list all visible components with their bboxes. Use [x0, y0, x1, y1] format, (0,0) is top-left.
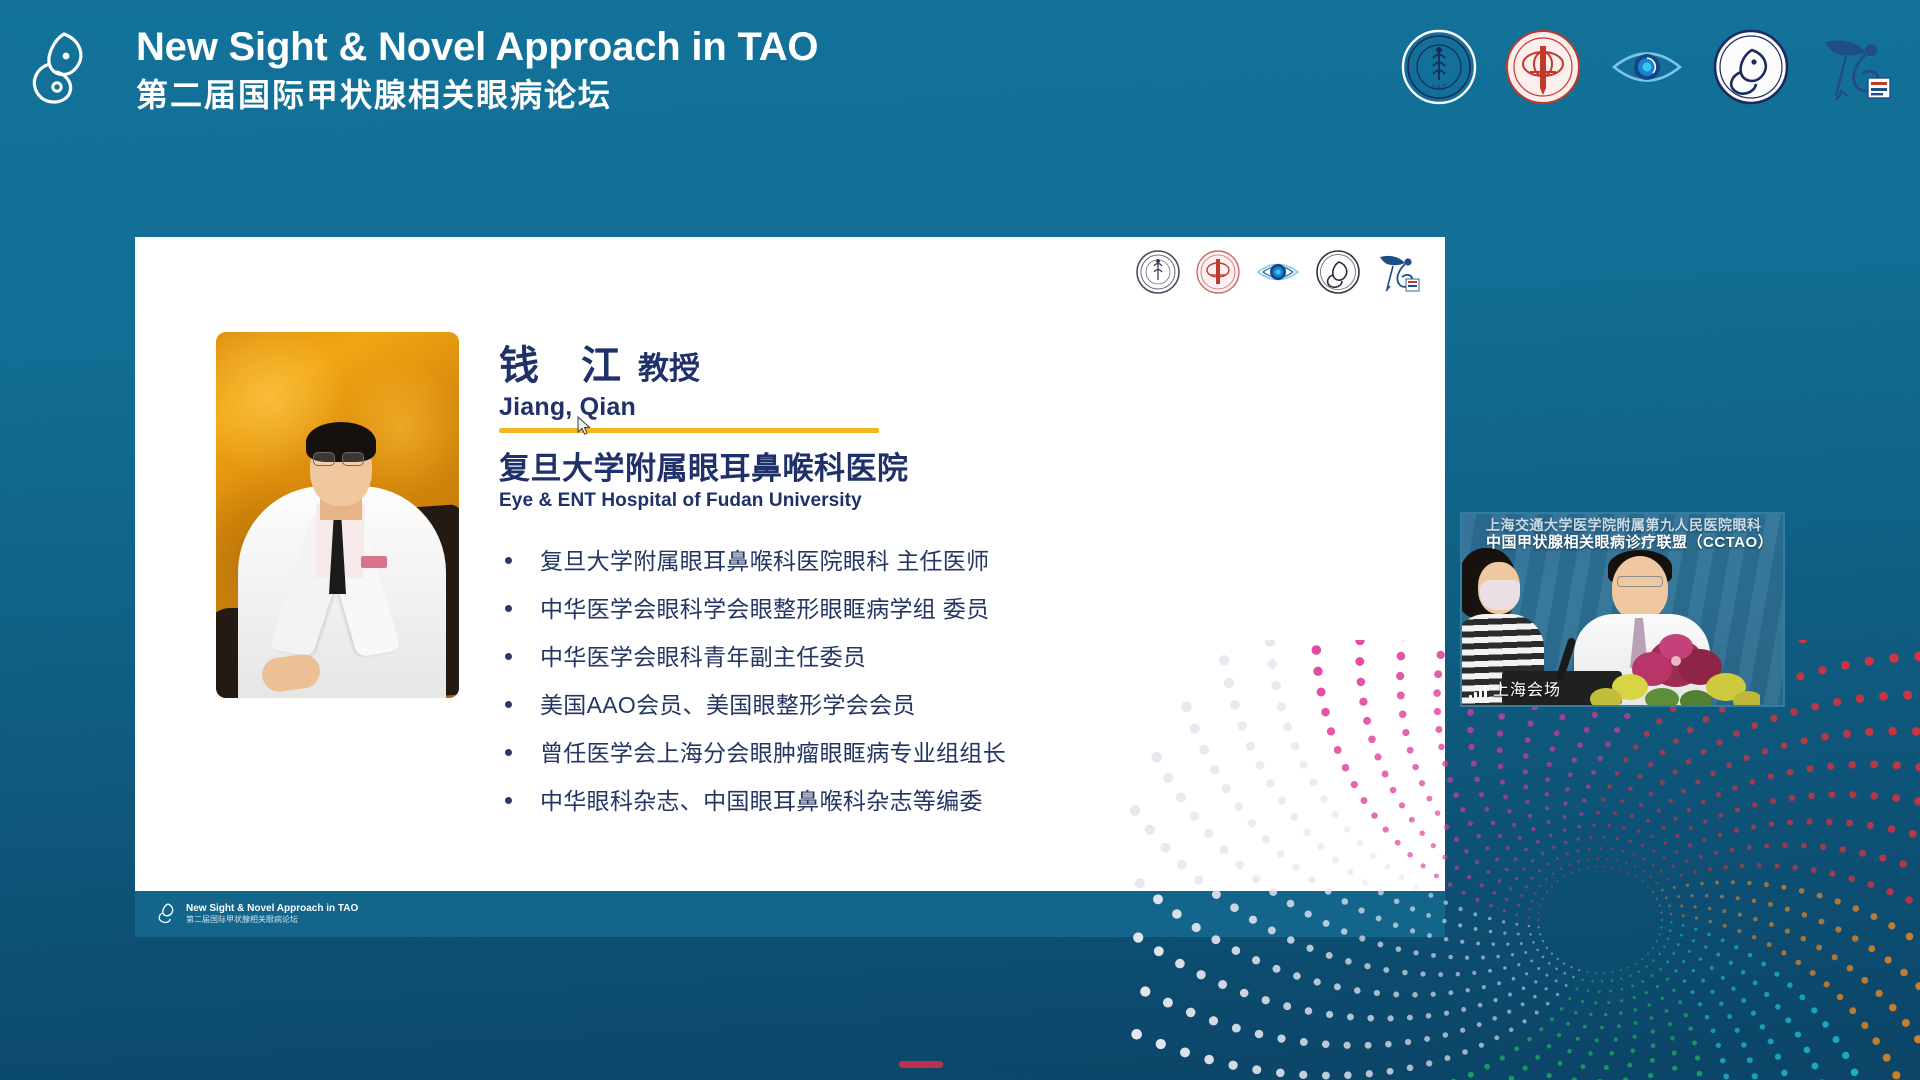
flower-arrangement — [1590, 617, 1760, 707]
list-item: 复旦大学附属眼耳鼻喉科医院眼科 主任医师 — [499, 546, 1389, 577]
slide-content: 钱 江 教授 Jiang, Qian 复旦大学附属眼耳鼻喉科医院 Eye & E… — [499, 333, 1389, 834]
video-overlay-line-2: 中国甲状腺相关眼病诊疗联盟（CCTAO） — [1486, 531, 1773, 552]
header-title-group: New Sight & Novel Approach in TAO 第二届国际甲… — [136, 24, 818, 115]
bottom-progress-mark — [899, 1061, 943, 1068]
list-item-label: 曾任医学会上海分会眼肿瘤眼眶病专业组组长 — [540, 738, 1006, 769]
shanghai-jiaotong-university-school-of-medicine-seal-icon: J·A·T — [1400, 28, 1478, 106]
credentials-list: 复旦大学附属眼耳鼻喉科医院眼科 主任医师 中华医学会眼科学会眼整形眼眶病学组 委… — [499, 546, 1389, 817]
svg-text:J·A·T: J·A·T — [1432, 84, 1447, 90]
footer-title-en: New Sight & Novel Approach in TAO — [186, 903, 358, 916]
speaker-name-cn: 钱 江 — [499, 333, 622, 391]
bullet-dot-icon — [505, 605, 512, 612]
speaker-title-cn: 教授 — [638, 343, 700, 388]
bullet-dot-icon — [505, 653, 512, 660]
header-logo-strip: J·A·T — [1400, 28, 1894, 106]
eye-institute-emblem-icon — [1608, 28, 1686, 106]
caduceus-wing-emblem-icon — [1816, 28, 1894, 106]
header-title-en: New Sight & Novel Approach in TAO — [136, 24, 818, 71]
tongji-university-medical-seal-icon — [1504, 28, 1582, 106]
speaker-name-block: 钱 江 教授 Jiang, Qian 复旦大学附属眼耳鼻喉科医院 Eye & E… — [499, 333, 1389, 512]
bullet-dot-icon — [505, 701, 512, 708]
caduceus-wing-emblem-icon — [1375, 249, 1421, 295]
video-venue-label-group: 上海会场 — [1469, 676, 1561, 700]
list-item: 中华眼科杂志、中国眼耳鼻喉科杂志等编委 — [499, 786, 1389, 817]
list-item: 美国AAO会员、美国眼整形学会会员 — [499, 690, 1389, 721]
butterfly-circle-seal-icon — [1712, 28, 1790, 106]
face-mask — [1480, 580, 1520, 610]
signal-bars-icon — [1469, 685, 1487, 700]
list-item: 中华医学会眼科学会眼整形眼眶病学组 委员 — [499, 594, 1389, 625]
affiliation-cn: 复旦大学附属眼耳鼻喉科医院 — [499, 443, 1389, 488]
slide-footer: New Sight & Novel Approach in TAO 第二届国际甲… — [135, 891, 1445, 937]
footer-title-cn: 第二届国际甲状腺相关眼病论坛 — [186, 915, 358, 925]
tongji-university-medical-seal-icon — [1195, 249, 1241, 295]
accent-rule — [499, 428, 879, 433]
video-participant-tile[interactable]: 上海交通大学医学院附属第九人民医院眼科 中国甲状腺相关眼病诊疗联盟（CCTAO）… — [1460, 512, 1785, 707]
bullet-dot-icon — [505, 749, 512, 756]
list-item: 中华医学会眼科青年副主任委员 — [499, 642, 1389, 673]
butterfly-eye-logo-icon — [157, 902, 177, 926]
header-title-cn: 第二届国际甲状腺相关眼病论坛 — [136, 75, 818, 115]
conference-header: New Sight & Novel Approach in TAO 第二届国际甲… — [0, 0, 1920, 160]
slide-logo-strip — [1135, 249, 1421, 295]
mouse-pointer-icon — [577, 416, 591, 436]
speaker-name-en: Jiang, Qian — [499, 393, 1389, 422]
list-item-label: 美国AAO会员、美国眼整形学会会员 — [540, 690, 916, 721]
eye-institute-emblem-icon — [1255, 249, 1301, 295]
list-item-label: 中华医学会眼科青年副主任委员 — [540, 642, 866, 673]
bullet-dot-icon — [505, 557, 512, 564]
butterfly-circle-seal-icon — [1315, 249, 1361, 295]
butterfly-eye-logo-icon — [26, 28, 100, 112]
list-item-label: 复旦大学附属眼耳鼻喉科医院眼科 主任医师 — [540, 546, 989, 577]
presentation-slide[interactable]: 钱 江 教授 Jiang, Qian 复旦大学附属眼耳鼻喉科医院 Eye & E… — [135, 237, 1445, 937]
bullet-dot-icon — [505, 797, 512, 804]
affiliation-en: Eye & ENT Hospital of Fudan University — [499, 490, 1389, 512]
video-venue-label: 上海会场 — [1493, 676, 1561, 700]
list-item-label: 中华眼科杂志、中国眼耳鼻喉科杂志等编委 — [540, 786, 983, 817]
list-item-label: 中华医学会眼科学会眼整形眼眶病学组 委员 — [540, 594, 989, 625]
shanghai-jiaotong-university-school-of-medicine-seal-icon — [1135, 249, 1181, 295]
list-item: 曾任医学会上海分会眼肿瘤眼眶病专业组组长 — [499, 738, 1389, 769]
speaker-portrait-photo — [216, 332, 459, 698]
